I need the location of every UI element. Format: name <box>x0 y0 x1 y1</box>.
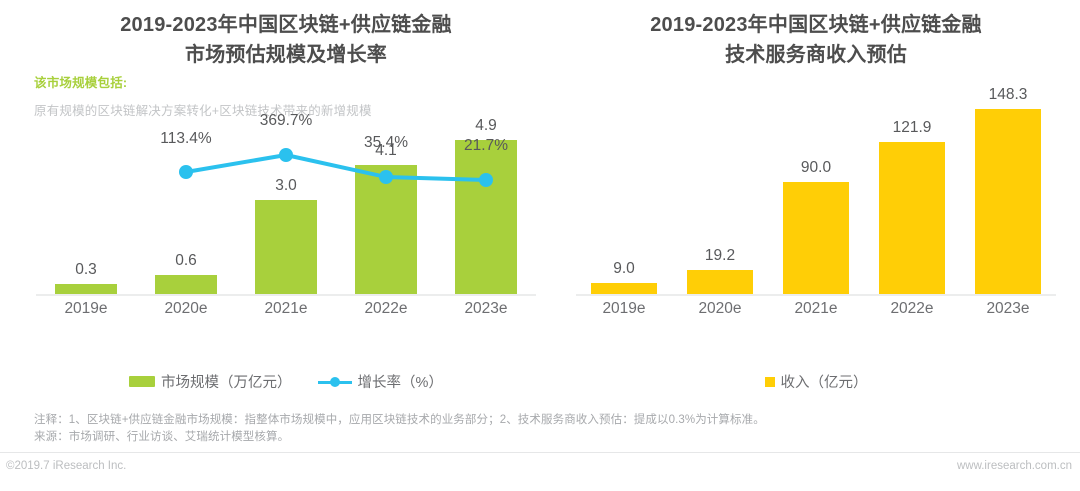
x-axis-label: 2021e <box>768 300 864 318</box>
growth-rate-label: 369.7% <box>260 112 313 130</box>
growth-rate-label: 21.7% <box>464 137 508 155</box>
bar-value-label: 121.9 <box>893 119 932 137</box>
footnote-line-2: 来源：市场调研、行业访谈、艾瑞统计模型核算。 <box>34 429 1046 446</box>
line-marker-swatch-icon <box>318 376 352 388</box>
revenue-bar[interactable]: 9.0 <box>591 283 657 294</box>
bar-slot: 0.3 <box>36 120 136 294</box>
left-chart-legend: 市场规模（万亿元） 增长率（%） <box>36 371 536 392</box>
bar-value-label: 148.3 <box>989 86 1028 104</box>
right-chart-title-line2: 技术服务商收入预估 <box>576 40 1056 70</box>
left-chart-bars: 0.3 0.6 3.0 4.1 <box>36 120 536 294</box>
right-chart-plot: 9.0 19.2 90.0 121.9 <box>576 96 1056 296</box>
bar-slot: 148.3 <box>960 96 1056 294</box>
market-size-bar[interactable]: 0.6 <box>155 275 217 294</box>
left-chart-title: 2019-2023年中国区块链+供应链金融 市场预估规模及增长率 <box>36 10 536 70</box>
left-chart-axis-line <box>36 294 536 296</box>
legend-item-revenue[interactable]: 收入（亿元） <box>765 371 868 392</box>
footer-copyright: ©2019.7 iResearch Inc. <box>6 460 126 472</box>
x-axis-label: 2022e <box>336 300 436 318</box>
footnotes: 注释：1、区块链+供应链金融市场规模：指整体市场规模中，应用区块链技术的业务部分… <box>34 412 1046 446</box>
bar-swatch-icon <box>129 376 155 387</box>
infographic-page: 2019-2023年中国区块链+供应链金融 市场预估规模及增长率 该市场规模包括… <box>0 0 1080 491</box>
market-size-bar[interactable]: 4.9 <box>455 140 517 294</box>
x-axis-label: 2020e <box>672 300 768 318</box>
growth-rate-label: 35.4% <box>364 134 408 152</box>
footer-divider <box>0 452 1080 453</box>
bar-value-label: 0.6 <box>175 252 197 270</box>
revenue-bar[interactable]: 90.0 <box>783 182 849 294</box>
right-chart: 9.0 19.2 90.0 121.9 <box>576 96 1056 336</box>
legend-label: 收入（亿元） <box>781 371 868 392</box>
bar-slot: 3.0 <box>236 120 336 294</box>
bar-slot: 90.0 <box>768 96 864 294</box>
left-chart-x-labels: 2019e 2020e 2021e 2022e 2023e <box>36 300 536 318</box>
bar-value-label: 0.3 <box>75 261 97 279</box>
right-chart-title-line1: 2019-2023年中国区块链+供应链金融 <box>576 10 1056 40</box>
x-axis-label: 2021e <box>236 300 336 318</box>
legend-label: 增长率（%） <box>358 371 443 392</box>
bar-value-label: 3.0 <box>275 177 297 195</box>
bar-value-label: 19.2 <box>705 247 735 265</box>
left-chart-title-line1: 2019-2023年中国区块链+供应链金融 <box>36 10 536 40</box>
bar-value-label: 9.0 <box>613 260 635 278</box>
left-chart-plot: 0.3 0.6 3.0 4.1 <box>36 120 536 296</box>
market-size-bar[interactable]: 0.3 <box>55 284 117 294</box>
right-chart-x-labels: 2019e 2020e 2021e 2022e 2023e <box>576 300 1056 318</box>
legend-item-growth-rate[interactable]: 增长率（%） <box>318 371 443 392</box>
bar-value-label: 90.0 <box>801 159 831 177</box>
market-size-bar[interactable]: 4.1 <box>355 165 417 294</box>
revenue-bar[interactable]: 121.9 <box>879 142 945 294</box>
growth-rate-label: 113.4% <box>160 130 211 148</box>
x-axis-label: 2020e <box>136 300 236 318</box>
footnote-line-1: 注释：1、区块链+供应链金融市场规模：指整体市场规模中，应用区块链技术的业务部分… <box>34 412 1046 429</box>
x-axis-label: 2023e <box>960 300 1056 318</box>
x-axis-label: 2019e <box>36 300 136 318</box>
bar-swatch-icon <box>765 377 775 387</box>
right-chart-axis-line <box>576 294 1056 296</box>
left-chart-title-line2: 市场预估规模及增长率 <box>36 40 536 70</box>
left-chart-caption-highlight: 该市场规模包括: <box>34 72 127 91</box>
legend-item-market-size[interactable]: 市场规模（万亿元） <box>129 371 292 392</box>
left-chart-caption-detail: 原有规模的区块链解决方案转化+区块链技术带来的新增规模 <box>34 100 372 119</box>
legend-label: 市场规模（万亿元） <box>161 371 292 392</box>
right-chart-title: 2019-2023年中国区块链+供应链金融 技术服务商收入预估 <box>576 10 1056 70</box>
market-size-bar[interactable]: 3.0 <box>255 200 317 294</box>
revenue-bar[interactable]: 19.2 <box>687 270 753 294</box>
x-axis-label: 2023e <box>436 300 536 318</box>
x-axis-label: 2022e <box>864 300 960 318</box>
x-axis-label: 2019e <box>576 300 672 318</box>
left-chart: 0.3 0.6 3.0 4.1 <box>36 120 536 335</box>
bar-slot: 9.0 <box>576 96 672 294</box>
bar-value-label: 4.9 <box>475 117 497 135</box>
footer: ©2019.7 iResearch Inc. www.iresearch.com… <box>0 460 1080 484</box>
bar-slot: 19.2 <box>672 96 768 294</box>
bar-slot: 121.9 <box>864 96 960 294</box>
revenue-bar[interactable]: 148.3 <box>975 109 1041 294</box>
footer-website[interactable]: www.iresearch.com.cn <box>957 460 1072 472</box>
right-chart-bars: 9.0 19.2 90.0 121.9 <box>576 96 1056 294</box>
right-chart-legend: 收入（亿元） <box>576 371 1056 392</box>
